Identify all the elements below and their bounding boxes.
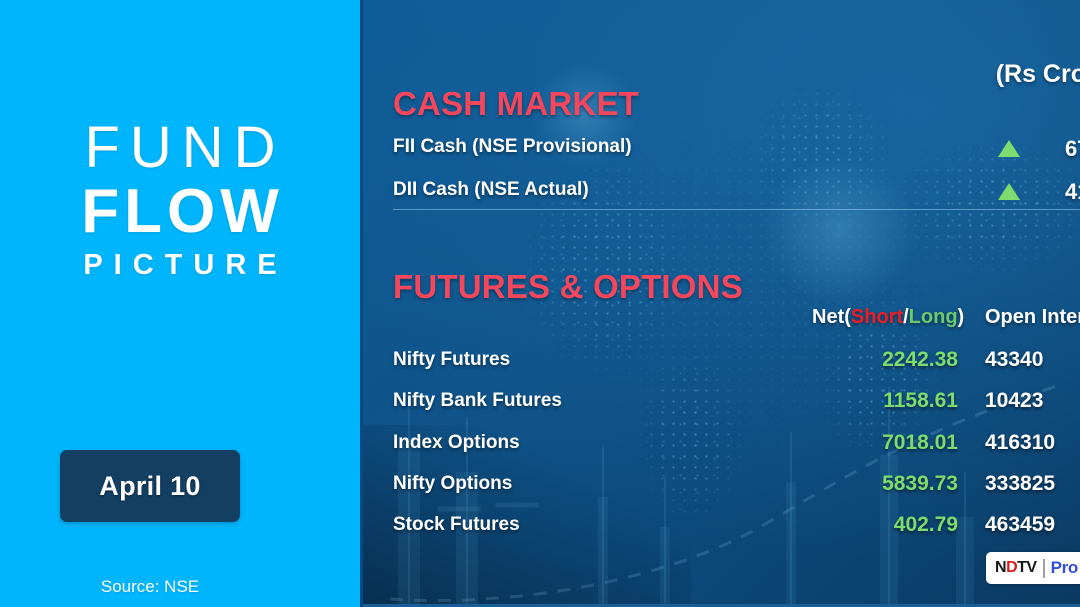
brand-panel: FUND FLOW PICTURE April 10 Source: NSE (0, 0, 360, 607)
ndtv-profit-logo: NDTV Pro (986, 552, 1080, 584)
fno-table-header: Net(Short/Long) Open Inter (360, 306, 1080, 332)
profit-wordmark: Pro (1051, 558, 1078, 578)
column-header-net: Net(Short/Long) (812, 306, 958, 329)
net-prefix: Net( (812, 306, 851, 328)
ndtv-letter-n: N (995, 559, 1006, 576)
panel-divider-edge (360, 0, 363, 607)
fno-row-name: Index Options (393, 432, 520, 454)
background-glow (760, 150, 920, 310)
date-badge: April 10 (60, 450, 240, 522)
section-title-futures-options: FUTURES & OPTIONS (393, 268, 743, 306)
fno-row-net: 5839.73 (812, 472, 958, 496)
brand-line-picture: PICTURE (0, 250, 360, 282)
arrow-up-icon (998, 183, 1020, 200)
data-panel: (Rs Cro CASH MARKET FII Cash (NSE Provis… (360, 0, 1080, 607)
brand-lockup: FUND FLOW PICTURE (0, 118, 360, 282)
fno-row-nifty-bank-futures: Nifty Bank Futures 1158.61 10423 (360, 390, 1080, 418)
fno-row-net: 2242.38 (812, 348, 958, 372)
cash-row-value: 672 (1065, 136, 1080, 162)
ndtv-wordmark: NDTV (995, 559, 1037, 577)
fno-row-name: Nifty Options (393, 473, 512, 495)
cash-row-dii: DII Cash (NSE Actual) 410 (393, 179, 1080, 207)
ndtv-letter-d: D (1006, 559, 1017, 576)
fund-flow-picture-graphic: FUND FLOW PICTURE April 10 Source: NSE (0, 0, 1080, 607)
cash-row-label: FII Cash (NSE Provisional) (393, 136, 632, 158)
fno-row-open-interest: 416310 (985, 431, 1055, 455)
fno-row-open-interest: 43340 (985, 348, 1043, 372)
fno-row-nifty-futures: Nifty Futures 2242.38 43340 (360, 349, 1080, 377)
section-title-cash-market: CASH MARKET (393, 85, 639, 123)
fno-row-net: 402.79 (812, 513, 958, 537)
fno-row-name: Nifty Bank Futures (393, 390, 562, 412)
column-header-open-interest: Open Inter (985, 306, 1080, 329)
net-short-label: Short (851, 306, 903, 328)
cash-row-label: DII Cash (NSE Actual) (393, 179, 589, 201)
brand-line-fund: FUND (0, 118, 360, 177)
net-suffix: ) (958, 306, 965, 328)
arrow-up-icon (998, 140, 1020, 157)
fno-row-open-interest: 333825 (985, 472, 1055, 496)
net-long-label: Long (909, 306, 958, 328)
brand-line-flow: FLOW (0, 179, 360, 244)
units-note: (Rs Cro (996, 60, 1080, 89)
cash-row-fii: FII Cash (NSE Provisional) 672 (393, 136, 1080, 164)
fno-row-name: Stock Futures (393, 514, 520, 536)
logo-separator-bar (1043, 559, 1045, 578)
date-badge-label: April 10 (99, 471, 200, 502)
ndtv-letters-tv: TV (1017, 559, 1036, 576)
fno-row-net: 7018.01 (812, 431, 958, 455)
source-attribution: Source: NSE (0, 577, 300, 597)
fno-row-net: 1158.61 (812, 389, 958, 413)
fno-row-nifty-options: Nifty Options 5839.73 333825 (360, 473, 1080, 501)
section-divider (393, 209, 1080, 210)
fno-row-open-interest: 10423 (985, 389, 1043, 413)
fno-row-open-interest: 463459 (985, 513, 1055, 537)
fno-row-name: Nifty Futures (393, 349, 510, 371)
fno-row-stock-futures: Stock Futures 402.79 463459 (360, 514, 1080, 542)
fno-row-index-options: Index Options 7018.01 416310 (360, 432, 1080, 460)
cash-row-value: 410 (1065, 179, 1080, 205)
